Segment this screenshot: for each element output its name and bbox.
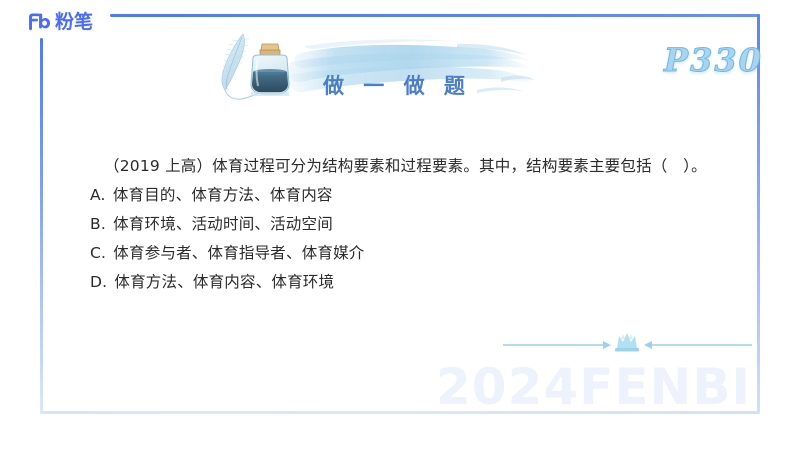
frame-border-left (40, 38, 43, 414)
option-row-b[interactable]: B. 体育环境、活动时间、活动空间 (90, 210, 740, 239)
option-letter-b: B. (90, 215, 106, 233)
frame-border-top (110, 14, 760, 17)
banner-title: 做 一 做 题 (323, 76, 471, 97)
option-letter-a: A. (90, 186, 106, 204)
option-row-d[interactable]: D. 体育方法、体育内容、体育环境 (90, 268, 740, 297)
slide-canvas: 2024FENBI 粉笔 (0, 0, 800, 450)
header-banner: 做 一 做 题 (205, 28, 535, 108)
option-text-b: 体育环境、活动时间、活动空间 (113, 215, 333, 233)
crown-divider (495, 330, 760, 356)
fenbi-fb-logo-icon (25, 9, 51, 35)
question-block: （2019 上高）体育过程可分为结构要素和过程要素。其中，结构要素主要包括（ ）… (90, 152, 740, 297)
option-row-c[interactable]: C. 体育参与者、体育指导者、体育媒介 (90, 239, 740, 268)
option-row-a[interactable]: A. 体育目的、体育方法、体育内容 (90, 181, 740, 210)
option-letter-c: C. (90, 244, 106, 262)
brand-wordmark: 粉笔 (55, 13, 93, 32)
page-marker: P330 (664, 44, 763, 76)
option-letter-d: D. (90, 273, 107, 291)
watermark-text: 2024FENBI (436, 362, 751, 412)
option-text-d: 体育方法、体育内容、体育环境 (114, 273, 334, 291)
brand-logo: 粉笔 (25, 9, 97, 35)
crown-divider-icon (495, 330, 760, 356)
question-stem: （2019 上高）体育过程可分为结构要素和过程要素。其中，结构要素主要包括（ ）… (90, 152, 740, 181)
option-text-c: 体育参与者、体育指导者、体育媒介 (113, 244, 364, 262)
option-text-a: 体育目的、体育方法、体育内容 (113, 186, 333, 204)
